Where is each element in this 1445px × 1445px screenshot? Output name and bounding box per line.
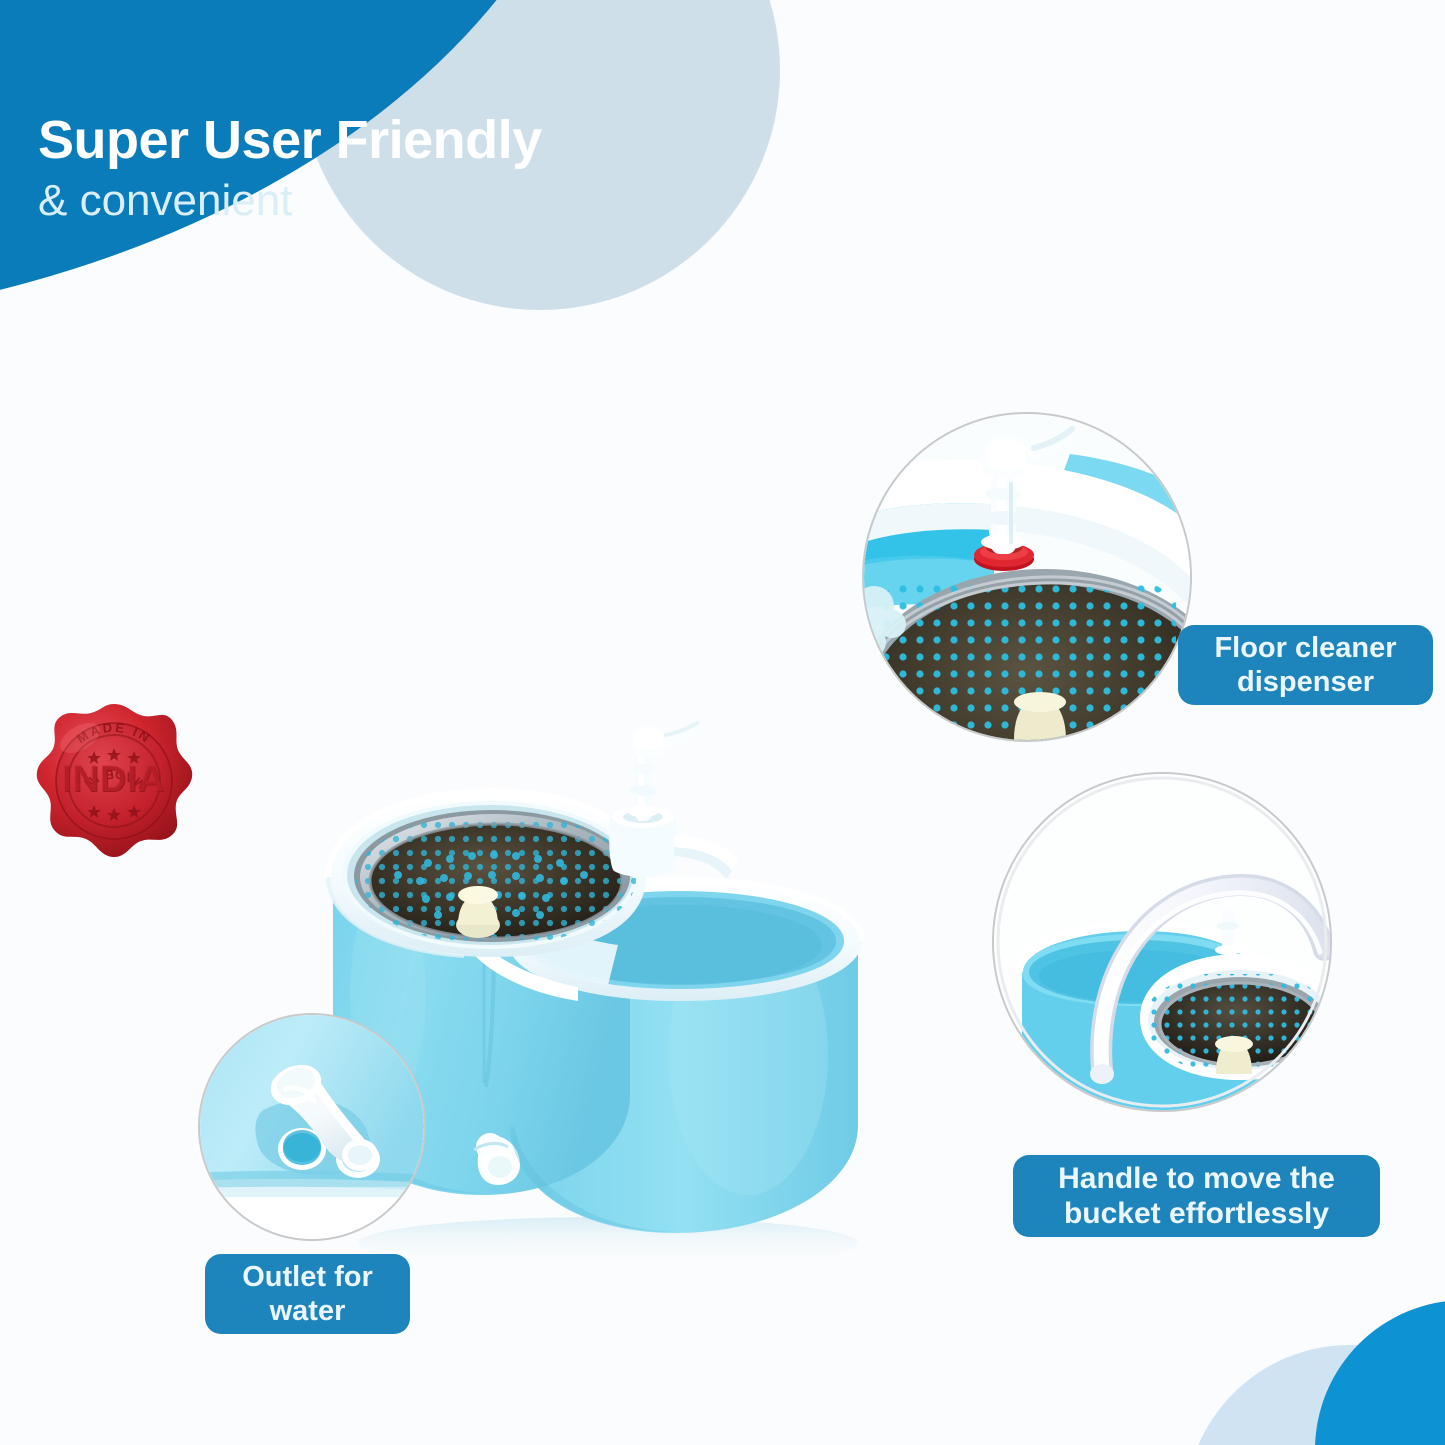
- page-subtitle: & convenient: [38, 173, 542, 228]
- header-text-block: Super User Friendly & convenient: [38, 112, 542, 228]
- callout-handle: Handle to move the bucket effortlessly: [1013, 1155, 1380, 1237]
- callout-line-2: bucket effortlessly: [1058, 1196, 1335, 1231]
- callout-line-1: Handle to move the: [1058, 1161, 1335, 1196]
- callout-line-2: water: [242, 1294, 373, 1328]
- handle-closeup-inset: [992, 772, 1332, 1112]
- callout-line-1: Floor cleaner: [1214, 631, 1396, 665]
- callout-line-2: dispenser: [1214, 665, 1396, 699]
- made-in-india-seal: MADE IN MADE IN INDIA INDIA: [28, 698, 200, 870]
- page-title: Super User Friendly: [38, 112, 542, 169]
- svg-text:INDIA: INDIA: [61, 758, 164, 799]
- outlet-closeup-inset: [198, 1013, 426, 1241]
- dispenser-closeup-inset: [862, 412, 1192, 742]
- callout-floor-cleaner-dispenser: Floor cleaner dispenser: [1178, 625, 1433, 705]
- product-feature-infographic: Super User Friendly & convenient: [0, 0, 1445, 1445]
- callout-line-1: Outlet for: [242, 1260, 373, 1294]
- callout-outlet-for-water: Outlet for water: [205, 1254, 410, 1334]
